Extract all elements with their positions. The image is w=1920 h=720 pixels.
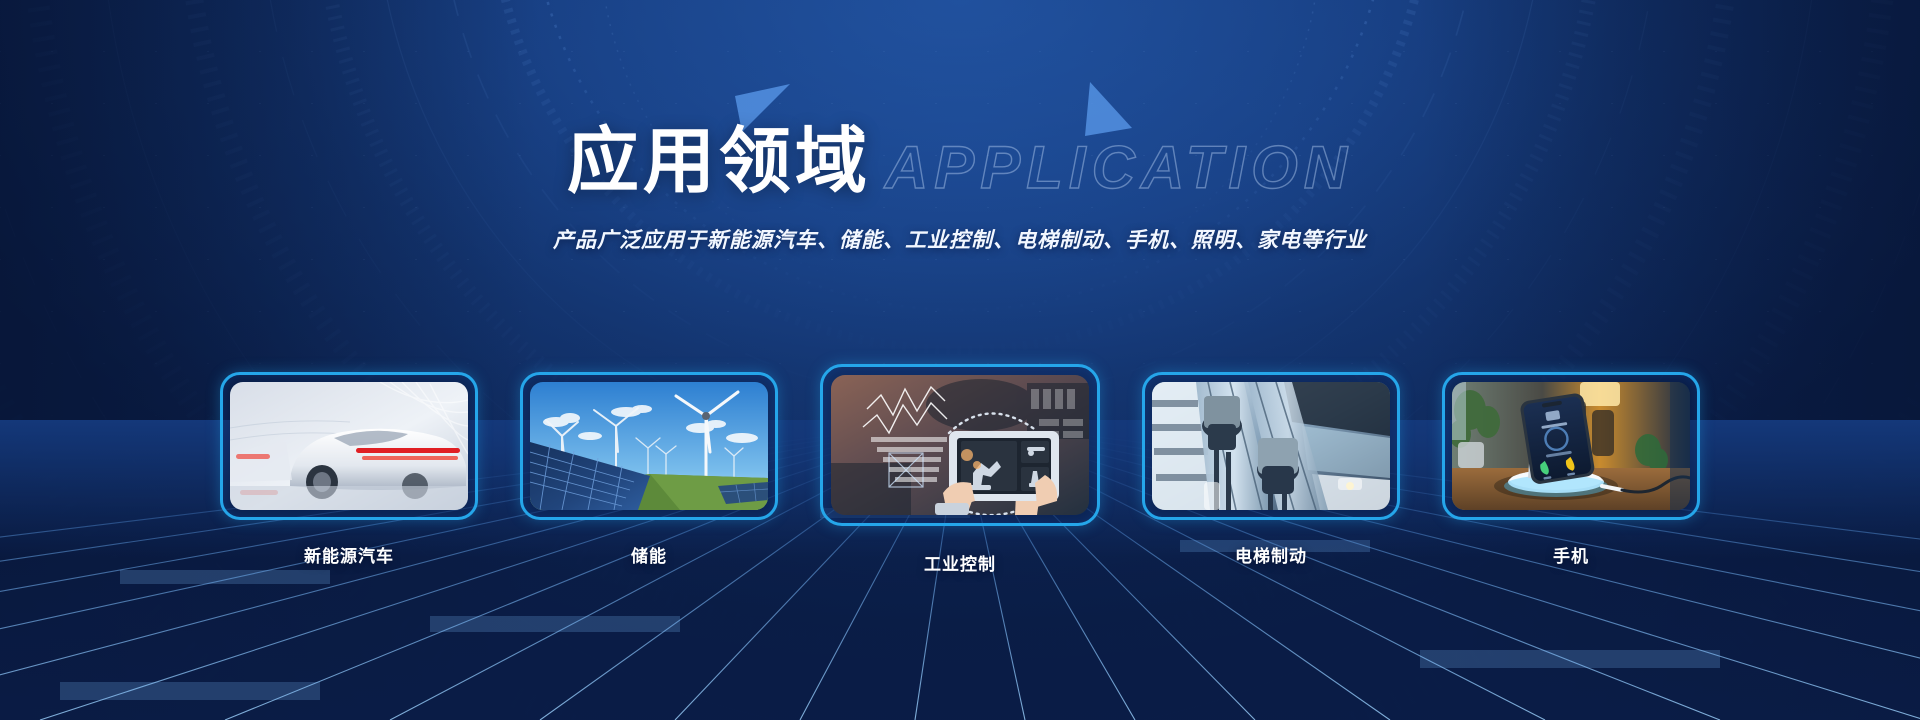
- application-card-list: 新能源汽车: [0, 372, 1920, 575]
- sports-car-photo: [230, 382, 468, 510]
- page-title: 应用领域: [567, 126, 871, 198]
- application-banner: 应用领域 APPLICATION 产品广泛应用于新能源汽车、储能、工业控制、电梯…: [0, 0, 1920, 720]
- card-label: 电梯制动: [1235, 542, 1307, 567]
- card-label: 手机: [1553, 542, 1589, 567]
- application-card-new-energy-vehicle[interactable]: 新能源汽车: [220, 372, 478, 567]
- card-frame: [220, 372, 478, 520]
- application-card-mobile-phone[interactable]: 手机: [1442, 372, 1700, 567]
- card-label: 储能: [631, 542, 667, 567]
- card-label: 新能源汽车: [304, 542, 394, 567]
- tablet-robotic-arm-hud-photo: [831, 375, 1089, 515]
- banner-header: 应用领域 APPLICATION 产品广泛应用于新能源汽车、储能、工业控制、电梯…: [0, 126, 1920, 254]
- glass-elevators-photo: [1152, 382, 1390, 510]
- phone-wireless-charger-photo: [1452, 382, 1690, 510]
- card-frame: [820, 364, 1100, 526]
- card-frame: [1142, 372, 1400, 520]
- application-card-industrial-control[interactable]: 工业控制: [820, 364, 1100, 575]
- application-card-elevator-braking[interactable]: 电梯制动: [1142, 372, 1400, 567]
- page-title-english: APPLICATION: [885, 138, 1353, 198]
- page-subtitle: 产品广泛应用于新能源汽车、储能、工业控制、电梯制动、手机、照明、家电等行业: [0, 224, 1920, 254]
- card-frame: [520, 372, 778, 520]
- application-card-energy-storage[interactable]: 储能: [520, 372, 778, 567]
- card-frame: [1442, 372, 1700, 520]
- card-label: 工业控制: [924, 550, 996, 575]
- solar-panels-wind-turbines-photo: [530, 382, 768, 510]
